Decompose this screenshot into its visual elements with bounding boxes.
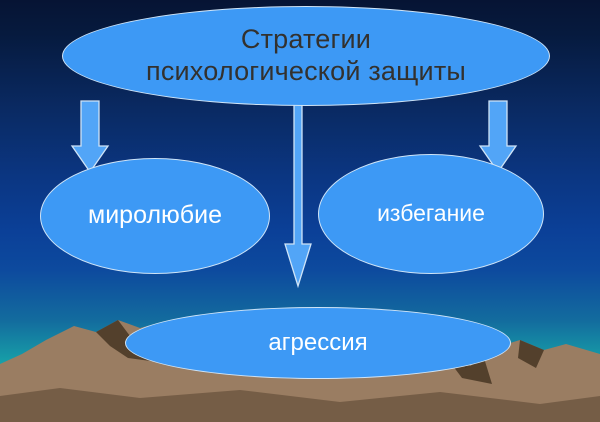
node-root-label: Стратегии психологической защиты <box>146 24 466 88</box>
node-peacefulness-label: миролюбие <box>88 201 222 231</box>
node-peacefulness[interactable]: миролюбие <box>40 158 270 274</box>
node-aggression-label: агрессия <box>268 329 367 357</box>
node-avoidance[interactable]: избегание <box>318 154 544 274</box>
slide-canvas: Стратегии психологической защиты миролюб… <box>0 0 600 422</box>
arrow-down-center-long-icon <box>285 102 311 286</box>
node-aggression[interactable]: агрессия <box>125 307 511 379</box>
node-root-strategies[interactable]: Стратегии психологической защиты <box>62 6 550 106</box>
arrow-down-left-icon <box>72 101 108 172</box>
node-avoidance-label: избегание <box>377 200 485 227</box>
